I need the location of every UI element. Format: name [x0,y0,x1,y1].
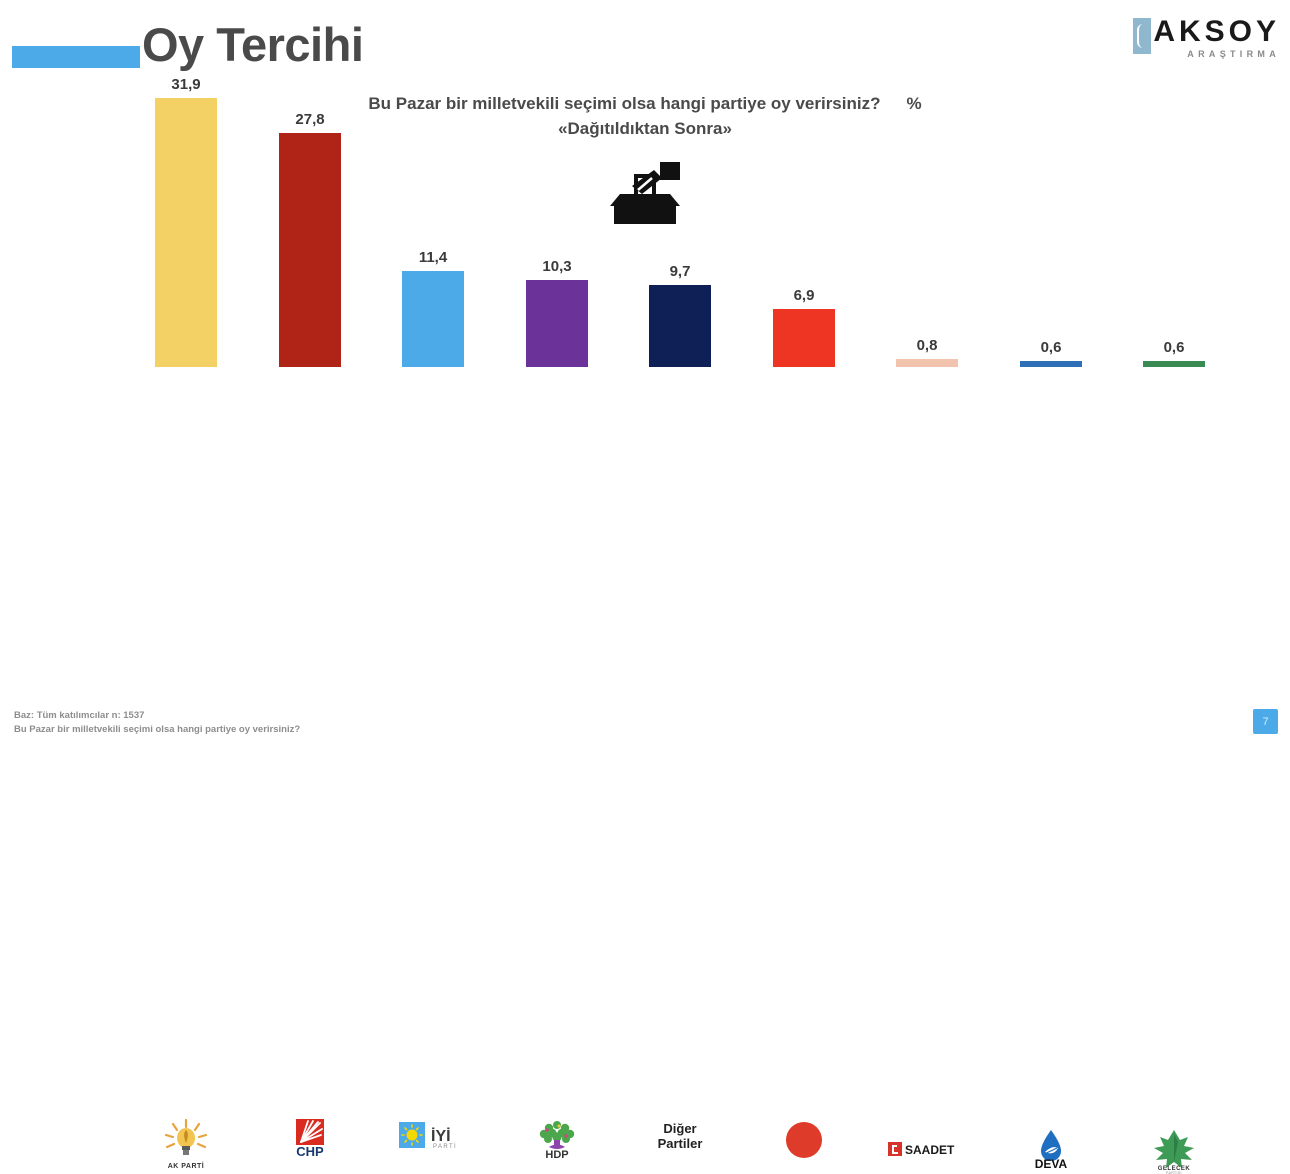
bar-label-diger-partiler: Diğer Partiler [620,1119,740,1152]
bar-column-deva: 0,6 [1020,339,1082,367]
akparti-logo-icon [164,1119,208,1161]
bar-column-gelecek: 0,6 [1143,339,1205,367]
svg-text:DEVA: DEVA [1035,1157,1068,1171]
bar-label-akparti: AK PARTİ [126,1119,246,1170]
bar-rect-akparti[interactable] [155,98,217,367]
bar-label-gelecek: GELECEK PARTİSİ [1114,1128,1234,1174]
bar-column-diger-partiler: 9,7 [649,263,711,367]
bar-column-iyiparti: 11,4 [402,249,464,367]
bar-value-chp: 27,8 [295,111,324,128]
bar-value-mhp: 6,9 [794,287,815,304]
saadet-logo-icon: SAADET [887,1140,967,1158]
bar-column-mhp: 6,9 [773,287,835,367]
bar-label-saadet: SAADET [867,1140,987,1158]
bar-value-deva: 0,6 [1041,339,1062,356]
bar-value-diger-partiler: 9,7 [670,263,691,280]
bar-value-gelecek: 0,6 [1164,339,1185,356]
bar-column-akparti: 31,9 [155,76,217,367]
party-caption-diger-line2: Partiler [658,1137,703,1152]
bar-rect-gelecek[interactable] [1143,361,1205,367]
footer-base-note: Baz: Tüm katılımcılar n: 1537 [14,709,300,724]
footer-question-note: Bu Pazar bir milletvekili seçimi olsa ha… [14,723,300,738]
bar-label-chp: CHP [250,1119,370,1157]
bar-rect-mhp[interactable] [773,309,835,367]
bar-label-mhp [744,1119,864,1161]
bar-column-hdp: 10,3 [526,258,588,367]
bar-rect-iyiparti[interactable] [402,271,464,367]
svg-text:HDP: HDP [545,1149,568,1159]
bar-value-iyiparti: 11,4 [419,249,447,266]
bar-value-hdp: 10,3 [542,258,571,275]
bar-chart: 31,9 AK PARTİ 27,8 [0,0,1290,600]
footer-notes: Baz: Tüm katılımcılar n: 1537 Bu Pazar b… [14,709,300,738]
bar-rect-deva[interactable] [1020,361,1082,367]
party-caption-diger-line1: Diğer [663,1122,696,1137]
svg-text:İYİ: İYİ [431,1127,451,1145]
bar-rect-chp[interactable] [279,133,341,367]
deva-logo-icon: DEVA [1027,1128,1075,1172]
svg-text:CHP: CHP [296,1144,324,1157]
hdp-logo-icon: HDP [535,1119,579,1159]
mhp-logo-icon [783,1119,825,1161]
bar-label-deva: DEVA [991,1128,1111,1172]
svg-text:SAADET: SAADET [905,1143,955,1157]
bar-label-hdp: HDP [497,1119,617,1159]
gelecek-logo-icon: GELECEK PARTİSİ [1150,1128,1198,1174]
bar-column-saadet: 0,8 [896,337,958,367]
bar-rect-hdp[interactable] [526,280,588,367]
chp-logo-icon: CHP [287,1119,333,1157]
bar-value-saadet: 0,8 [917,337,938,354]
bar-column-chp: 27,8 [279,111,341,367]
svg-text:PARTİSİ: PARTİSİ [1166,1170,1182,1174]
bar-value-akparti: 31,9 [171,76,200,93]
bar-label-iyiparti: İYİ PARTİ [373,1119,493,1151]
page-number-badge: 7 [1253,709,1278,734]
svg-text:PARTİ: PARTİ [433,1143,457,1150]
iyiparti-logo-icon: İYİ PARTİ [397,1119,469,1151]
bar-rect-saadet[interactable] [896,359,958,367]
bar-rect-diger-partiler[interactable] [649,285,711,367]
party-caption-akparti: AK PARTİ [168,1163,205,1170]
